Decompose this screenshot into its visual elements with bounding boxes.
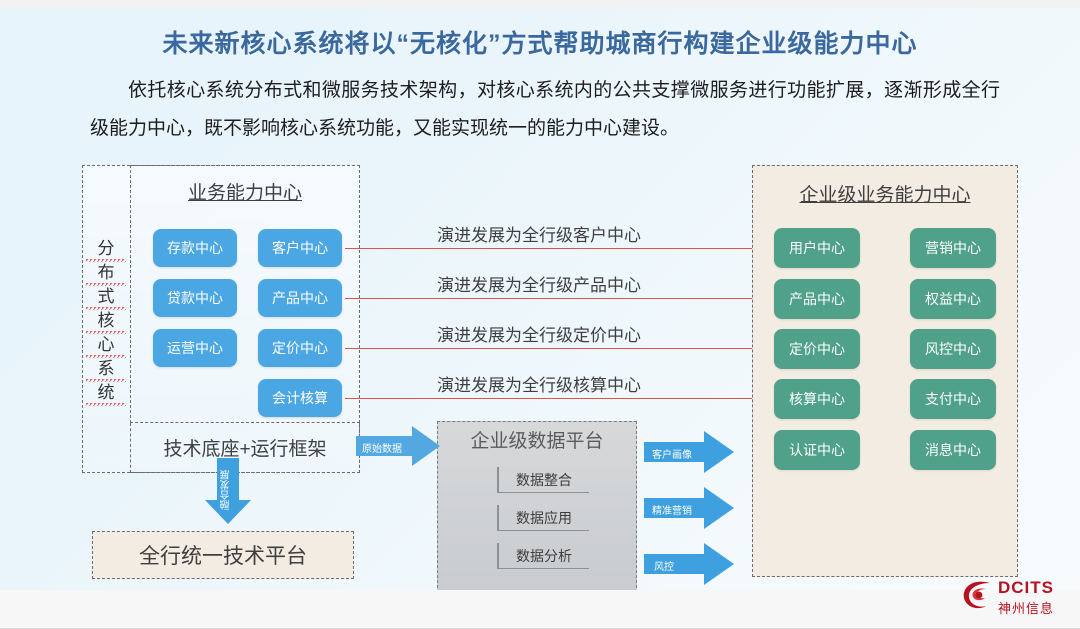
ent-box-auth[interactable]: 认证中心: [774, 430, 860, 470]
capability-box-pricing[interactable]: 定价中心: [258, 329, 342, 367]
logo-brand-text: DCITS: [998, 578, 1054, 598]
bottom-band: [0, 590, 1080, 629]
customer-profile-arrow-label: 客户画像: [652, 446, 742, 461]
precision-marketing-arrow: 精准营销: [644, 487, 734, 529]
data-item-application[interactable]: 数据应用: [497, 505, 589, 531]
capability-box-product[interactable]: 产品中心: [258, 279, 342, 317]
enterprise-capability-panel: [752, 165, 1018, 577]
core-label-char: 分: [86, 238, 126, 262]
evolution-label-accounting: 演进发展为全行级核算中心: [437, 371, 641, 396]
core-label-char: 统: [86, 382, 126, 406]
top-band: [0, 0, 1080, 8]
integration-down-arrow-label: 融合发展: [219, 470, 234, 510]
business-capability-title: 业务能力中心: [130, 178, 360, 205]
evolution-arrow-line: [345, 348, 767, 349]
evolution-label-customer: 演进发展为全行级客户中心: [437, 221, 641, 246]
ent-box-riskcontrol[interactable]: 风控中心: [910, 329, 996, 369]
ent-box-accounting[interactable]: 核算中心: [774, 379, 860, 419]
company-logo: DCITS 神州信息: [960, 578, 1072, 620]
customer-profile-arrow: 客户画像: [644, 431, 734, 473]
risk-control-arrow-label: 风控: [654, 558, 744, 573]
distributed-core-label: 分 布 式 核 心 系 统: [86, 238, 126, 406]
data-platform-title: 企业级数据平台: [437, 426, 637, 453]
ent-box-rights[interactable]: 权益中心: [910, 279, 996, 319]
evolution-arrow-line: [345, 398, 767, 399]
core-label-char: 式: [86, 286, 126, 310]
logo-cn-text: 神州信息: [998, 598, 1054, 617]
evolution-label-product: 演进发展为全行级产品中心: [437, 271, 641, 296]
integration-down-arrow: 融合发展: [205, 458, 251, 529]
data-item-analysis[interactable]: 数据分析: [497, 543, 589, 569]
capability-box-customer[interactable]: 客户中心: [258, 229, 342, 267]
swirl-logo-icon: [960, 578, 996, 612]
evolution-label-pricing: 演进发展为全行级定价中心: [437, 321, 641, 346]
slide-canvas: 未来新核心系统将以“无核化”方式帮助城商行构建企业级能力中心 依托核心系统分布式…: [0, 8, 1080, 590]
core-label-char: 系: [86, 358, 126, 382]
evolution-arrow-line: [345, 248, 767, 249]
raw-data-arrow: 原始数据: [356, 426, 440, 466]
capability-box-accounting[interactable]: 会计核算: [258, 379, 342, 417]
core-label-char: 核: [86, 310, 126, 334]
capability-box-loan[interactable]: 贷款中心: [153, 279, 237, 317]
ent-box-user[interactable]: 用户中心: [774, 228, 860, 268]
ent-box-message[interactable]: 消息中心: [910, 430, 996, 470]
page-subtitle: 依托核心系统分布式和微服务技术架构，对核心系统内的公共支撑微服务进行功能扩展，逐…: [90, 72, 1000, 148]
raw-data-arrow-label: 原始数据: [362, 440, 446, 455]
page-title: 未来新核心系统将以“无核化”方式帮助城商行构建企业级能力中心: [0, 24, 1080, 60]
core-label-char: 心: [86, 334, 126, 358]
ent-box-marketing[interactable]: 营销中心: [910, 228, 996, 268]
data-item-integration[interactable]: 数据整合: [497, 467, 589, 493]
ent-box-payment[interactable]: 支付中心: [910, 379, 996, 419]
evolution-arrow-line: [345, 298, 767, 299]
core-label-char: 布: [86, 262, 126, 286]
ent-box-pricing[interactable]: 定价中心: [774, 329, 860, 369]
enterprise-capability-title: 企业级业务能力中心: [752, 180, 1018, 207]
ent-box-product[interactable]: 产品中心: [774, 279, 860, 319]
risk-control-arrow: 风控: [644, 543, 734, 585]
capability-box-deposit[interactable]: 存款中心: [153, 229, 237, 267]
unified-tech-platform-box: 全行统一技术平台: [92, 531, 354, 579]
precision-marketing-arrow-label: 精准营销: [652, 502, 742, 517]
capability-box-operation[interactable]: 运营中心: [153, 329, 237, 367]
